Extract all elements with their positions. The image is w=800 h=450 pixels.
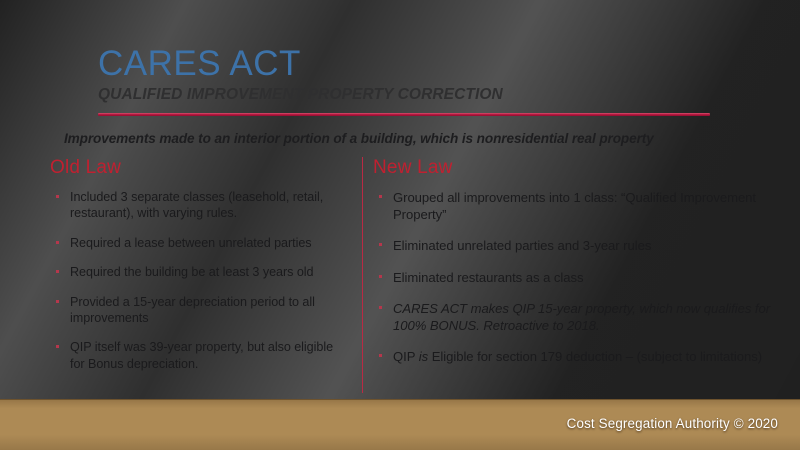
page-title: CARES ACT (98, 44, 718, 84)
bullet-text: Required a lease between unrelated parti… (70, 236, 312, 250)
title-block: CARES ACT QUALIFIED IMPROVEMENT PROPERTY… (98, 44, 718, 104)
bullet-list-new-law: Grouped all improvements into 1 class: “… (373, 189, 783, 365)
footer-copyright: Cost Segregation Authority © 2020 (567, 415, 778, 433)
bullet-text: QIP is Eligible for section 179 deductio… (393, 349, 762, 364)
column-new-law: New Law Grouped all improvements into 1 … (373, 156, 783, 379)
list-item: Eliminated unrelated parties and 3-year … (373, 237, 783, 254)
column-old-law: Old Law Included 3 separate classes (lea… (50, 156, 350, 385)
lead-statement: Improvements made to an interior portion… (64, 130, 764, 148)
list-item: Eliminated restaurants as a class (373, 269, 783, 286)
column-heading-old-law: Old Law (50, 156, 350, 180)
column-heading-new-law: New Law (373, 156, 783, 180)
bullet-text: QIP itself was 39-year property, but als… (70, 340, 333, 370)
wood-band-top-edge (0, 399, 800, 400)
bullet-text: CARES ACT makes QIP 15-year property, wh… (393, 301, 770, 333)
emphasized-word: is (419, 349, 428, 364)
column-divider-line (362, 157, 363, 393)
list-item: Required the building be at least 3 year… (50, 264, 350, 280)
bullet-text: Required the building be at least 3 year… (70, 265, 314, 279)
bullet-text: Included 3 separate classes (leasehold, … (70, 190, 323, 220)
list-item: Grouped all improvements into 1 class: “… (373, 189, 783, 223)
bullet-text: Grouped all improvements into 1 class: “… (393, 190, 756, 222)
bullet-list-old-law: Included 3 separate classes (leasehold, … (50, 189, 350, 372)
list-item: Required a lease between unrelated parti… (50, 235, 350, 251)
page-subtitle: QUALIFIED IMPROVEMENT PROPERTY CORRECTIO… (98, 85, 718, 104)
title-divider-rule (98, 113, 710, 116)
bullet-text: Eliminated restaurants as a class (393, 270, 583, 285)
bullet-text: Provided a 15-year depreciation period t… (70, 295, 315, 325)
list-item: Provided a 15-year depreciation period t… (50, 294, 350, 327)
bullet-text: Eliminated unrelated parties and 3-year … (393, 238, 651, 253)
list-item: CARES ACT makes QIP 15-year property, wh… (373, 300, 783, 334)
list-item: Included 3 separate classes (leasehold, … (50, 189, 350, 222)
list-item: QIP is Eligible for section 179 deductio… (373, 348, 783, 365)
list-item: QIP itself was 39-year property, but als… (50, 339, 350, 372)
presentation-slide: CARES ACT QUALIFIED IMPROVEMENT PROPERTY… (0, 0, 800, 450)
